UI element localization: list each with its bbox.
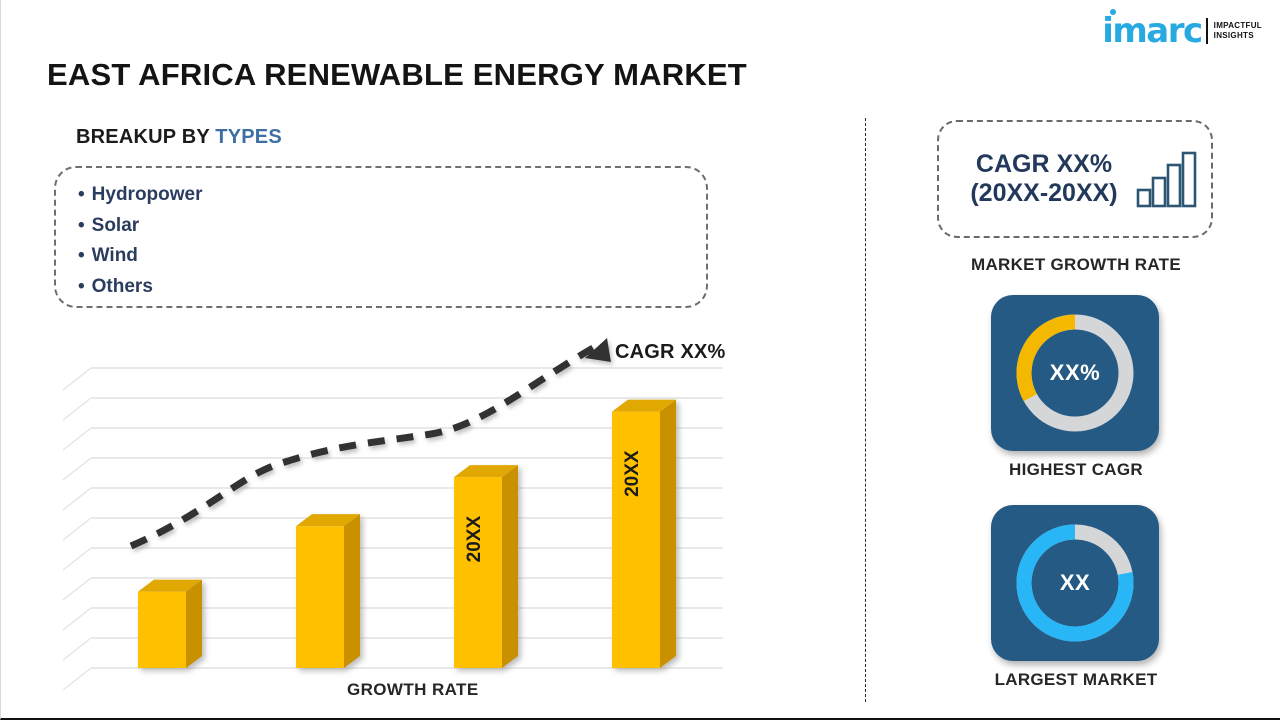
highest-cagr-tile: XX% — [991, 295, 1159, 451]
logo-tagline-line1: IMPACTFUL — [1214, 21, 1262, 31]
infographic-page: imarc IMPACTFUL INSIGHTS EAST AFRICA REN… — [0, 0, 1280, 720]
bar-side-face — [660, 400, 676, 668]
chart-bar — [296, 514, 360, 668]
growth-bar-chart: 20XX20XX — [51, 330, 751, 690]
bar-side-face — [502, 465, 518, 668]
market-growth-rate-box: CAGR XX% (20XX-20XX) — [937, 120, 1213, 238]
highest-cagr-caption: HIGHEST CAGR — [886, 460, 1266, 480]
growth-rate-cagr: CAGR XX% — [953, 150, 1135, 179]
list-item: •Solar — [78, 211, 706, 242]
logo-tagline: IMPACTFUL INSIGHTS — [1214, 21, 1262, 41]
list-item-label: Solar — [92, 215, 140, 236]
gridline-depth — [63, 548, 91, 570]
gridline-depth — [63, 608, 91, 630]
bar-front-face — [138, 592, 186, 668]
types-list: •Hydropower •Solar •Wind •Others — [56, 168, 706, 302]
market-growth-rate-caption: MARKET GROWTH RATE — [886, 255, 1266, 275]
growth-rate-text: CAGR XX% (20XX-20XX) — [953, 150, 1135, 208]
breakup-heading-prefix: BREAKUP BY — [76, 126, 210, 148]
gridline-depth — [63, 638, 91, 660]
chart-cagr-annotation: CAGR XX% — [615, 341, 726, 364]
bullet-icon: • — [78, 276, 85, 297]
bar-front-face — [296, 526, 344, 668]
bullet-icon: • — [78, 184, 85, 205]
bar-label: 20XX — [464, 516, 485, 563]
gridline-depth — [63, 368, 91, 390]
chart-bar — [454, 465, 518, 668]
bar-side-face — [344, 514, 360, 668]
gridline-depth — [63, 518, 91, 540]
breakup-heading: BREAKUP BY TYPES — [76, 126, 282, 149]
page-title: EAST AFRICA RENEWABLE ENERGY MARKET — [47, 57, 747, 93]
bar-chart-icon — [1135, 149, 1197, 209]
growth-rate-period: (20XX-20XX) — [953, 179, 1135, 208]
gridline-depth — [63, 488, 91, 510]
highest-cagr-value: XX% — [991, 360, 1159, 386]
gridline-depth — [63, 428, 91, 450]
bar-front-face — [454, 477, 502, 668]
bar-side-face — [186, 580, 202, 668]
bullet-icon: • — [78, 215, 85, 236]
list-item: •Wind — [78, 241, 706, 272]
gridline-depth — [63, 458, 91, 480]
bullet-icon: • — [78, 245, 85, 266]
logo-divider — [1206, 18, 1208, 44]
largest-market-tile: XX — [991, 505, 1159, 661]
logo-tagline-line2: INSIGHTS — [1214, 31, 1262, 41]
types-box: •Hydropower •Solar •Wind •Others — [54, 166, 708, 308]
bar-front-face — [612, 412, 660, 668]
list-item-label: Wind — [92, 245, 138, 266]
list-item: •Hydropower — [78, 180, 706, 211]
gridline-depth — [63, 668, 91, 690]
bar-label: 20XX — [622, 450, 643, 497]
chart-bar — [612, 400, 676, 668]
gridline-depth — [63, 398, 91, 420]
breakup-heading-accent: TYPES — [215, 126, 282, 148]
list-item-label: Hydropower — [92, 184, 203, 205]
largest-market-caption: LARGEST MARKET — [886, 670, 1266, 690]
chart-canvas: 20XX20XX — [51, 330, 751, 690]
chart-trend-arrow — [131, 338, 611, 546]
logo-wordmark: imarc — [1102, 14, 1201, 48]
imarc-logo: imarc IMPACTFUL INSIGHTS — [1102, 14, 1262, 48]
list-item: •Others — [78, 272, 706, 303]
vertical-divider — [865, 118, 866, 702]
gridline-depth — [63, 578, 91, 600]
chart-xlabel: GROWTH RATE — [347, 680, 479, 700]
list-item-label: Others — [92, 276, 153, 297]
trend-line — [131, 348, 593, 546]
largest-market-value: XX — [991, 570, 1159, 596]
chart-bar — [138, 580, 202, 668]
